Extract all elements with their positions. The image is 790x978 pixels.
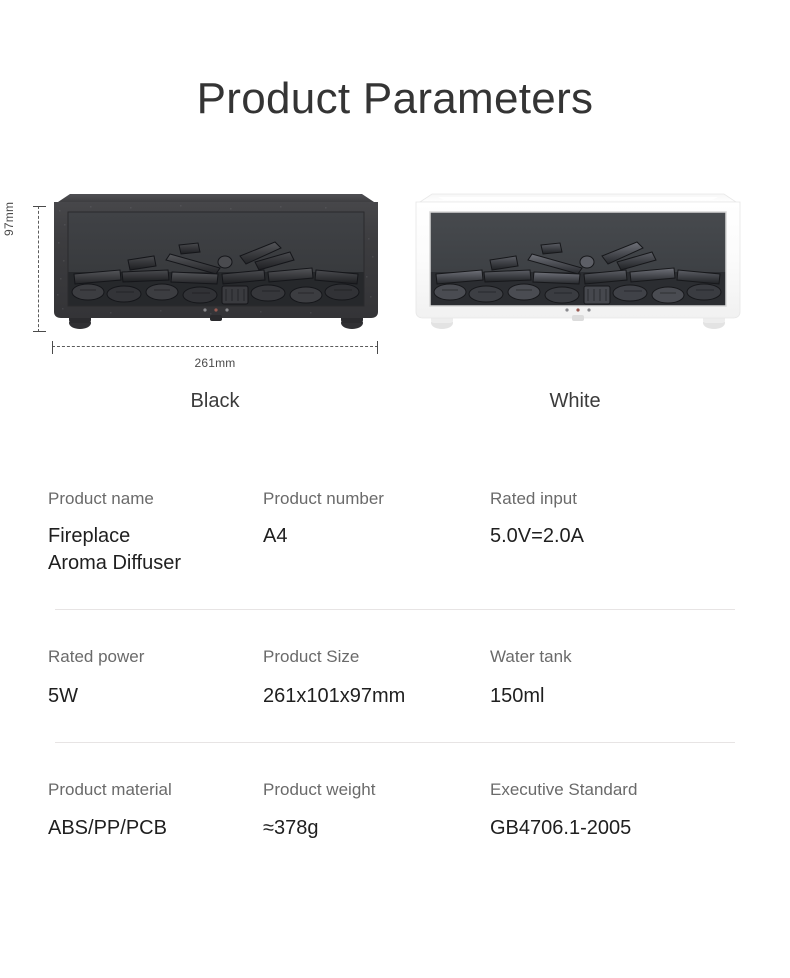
spec-row: Product name Fireplace Aroma Diffuser Pr… [0, 489, 790, 576]
spec-value: 5.0V=2.0A [490, 523, 750, 549]
spec-label: Rated power [48, 647, 258, 667]
spec-value: ≈378g [263, 815, 490, 841]
spec-cell-product-number: Product number A4 [258, 489, 490, 576]
spec-row: Rated power 5W Product Size 261x101x97mm… [0, 647, 790, 709]
row-spacer [0, 576, 790, 609]
white-unit-image [412, 190, 744, 335]
spec-label: Product name [48, 489, 258, 509]
spec-label: Product material [48, 780, 258, 800]
spec-value: 150ml [490, 683, 750, 709]
spec-label: Executive Standard [490, 780, 750, 800]
spec-value: GB4706.1-2005 [490, 815, 750, 841]
spec-value: ABS/PP/PCB [48, 815, 258, 841]
spec-value: Fireplace Aroma Diffuser [48, 523, 258, 576]
spec-label: Product Size [263, 647, 490, 667]
white-fireplace-diffuser-svg [412, 190, 744, 335]
spec-cell-rated-power: Rated power 5W [0, 647, 258, 709]
product-parameters-page: Product Parameters [0, 0, 790, 978]
width-dimension-label: 261mm [52, 356, 378, 370]
row-spacer [0, 610, 790, 647]
spec-label: Rated input [490, 489, 750, 509]
spec-row: Product material ABS/PP/PCB Product weig… [0, 780, 790, 842]
black-fireplace-diffuser-svg [50, 190, 382, 335]
spec-label: Water tank [490, 647, 750, 667]
spec-cell-executive-standard: Executive Standard GB4706.1-2005 [490, 780, 750, 842]
spec-value: A4 [263, 523, 490, 549]
height-dimension-line [38, 206, 40, 332]
spec-value: 261x101x97mm [263, 683, 490, 709]
product-showcase: Black White [0, 190, 790, 430]
spec-cell-water-tank: Water tank 150ml [490, 647, 750, 709]
black-unit-image [50, 190, 382, 335]
spec-cell-product-material: Product material ABS/PP/PCB [0, 780, 258, 842]
spec-label: Product number [263, 489, 490, 509]
black-variant-label: Black [50, 390, 380, 413]
spec-cell-product-weight: Product weight ≈378g [258, 780, 490, 842]
spec-cell-rated-input: Rated input 5.0V=2.0A [490, 489, 750, 576]
page-title: Product Parameters [0, 74, 790, 124]
height-dimension-label: 97mm [2, 202, 16, 236]
width-dimension-line [52, 346, 378, 348]
spec-value: 5W [48, 683, 258, 709]
spec-cell-product-size: Product Size 261x101x97mm [258, 647, 490, 709]
specifications-table: Product name Fireplace Aroma Diffuser Pr… [0, 489, 790, 842]
row-spacer [0, 709, 790, 742]
row-spacer [0, 743, 790, 780]
white-variant-label: White [410, 390, 740, 413]
spec-cell-product-name: Product name Fireplace Aroma Diffuser [0, 489, 258, 576]
spec-label: Product weight [263, 780, 490, 800]
